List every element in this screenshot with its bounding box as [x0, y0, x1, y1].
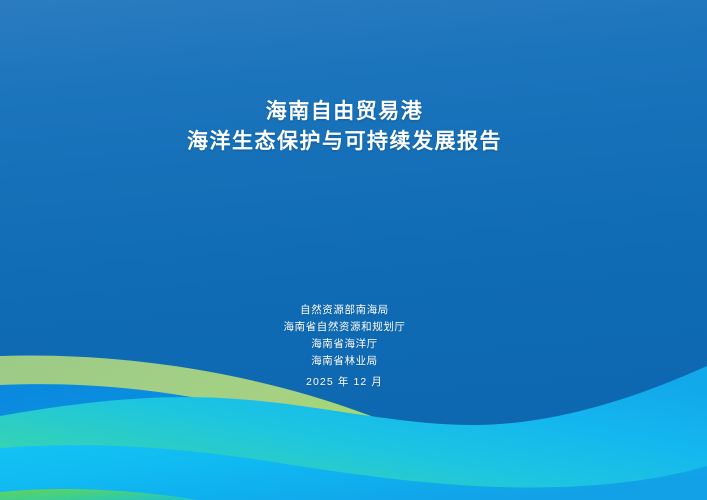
report-cover-page: 海南自由贸易港 海洋生态保护与可持续发展报告 自然资源部南海局 海南省自然资源和…: [0, 0, 707, 500]
organization-line: 自然资源部南海局: [0, 302, 689, 319]
organization-line: 海南省林业局: [0, 353, 689, 370]
page-title-line-1: 海南自由贸易港: [0, 97, 689, 127]
issuing-organizations: 自然资源部南海局 海南省自然资源和规划厅 海南省海洋厅 海南省林业局: [0, 302, 707, 370]
publication-date: 2025 年 12 月: [0, 374, 707, 389]
cover-title-block: 海南自由贸易港 海洋生态保护与可持续发展报告: [0, 97, 707, 157]
page-title-line-2: 海洋生态保护与可持续发展报告: [0, 127, 689, 157]
decorative-wave-graphics: [0, 0, 707, 500]
organization-line: 海南省自然资源和规划厅: [0, 319, 689, 336]
organization-line: 海南省海洋厅: [0, 336, 689, 353]
